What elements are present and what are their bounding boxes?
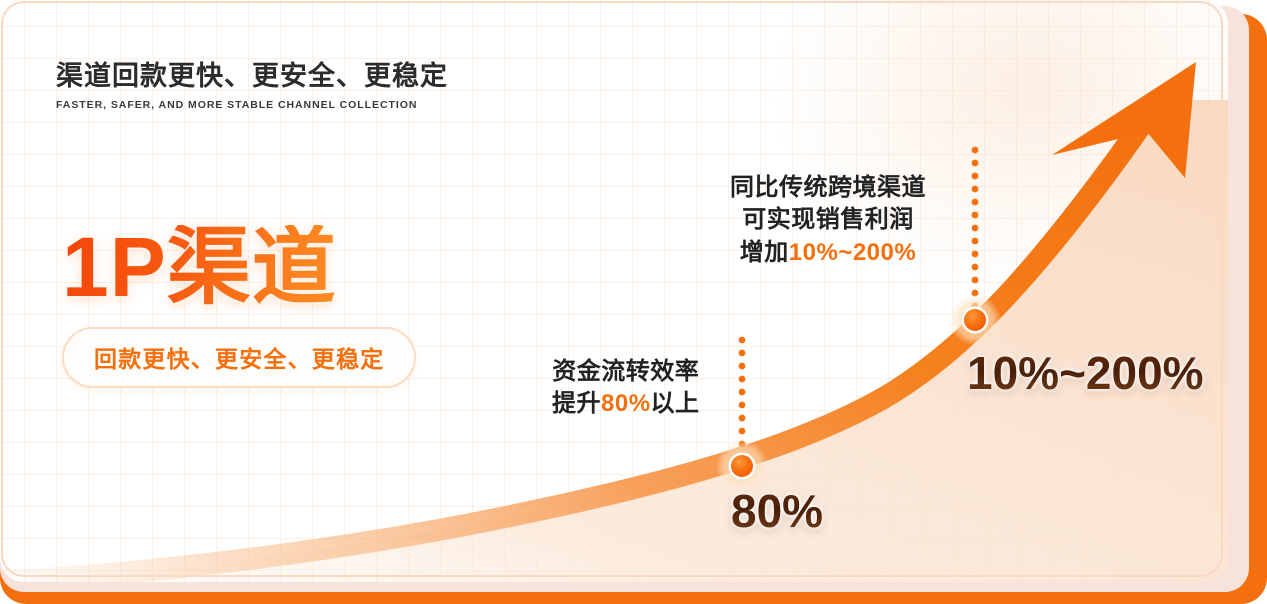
callout-1-line-2: 提升80%以上 — [552, 388, 700, 420]
page-title: 渠道回款更快、更安全、更稳定 — [56, 60, 448, 92]
dotted-connector-2 — [972, 147, 979, 310]
header: 渠道回款更快、更安全、更稳定 FASTER, SAFER, AND MORE S… — [56, 60, 448, 111]
value-label-10-200: 10%~200% — [967, 346, 1204, 400]
callout-2-line-2: 可实现销售利润 — [730, 204, 926, 236]
callout-2-line-3: 增加10%~200% — [730, 237, 926, 269]
callout-profit-increase: 同比传统跨境渠道 可实现销售利润 增加10%~200% — [730, 172, 926, 269]
callout-cash-efficiency: 资金流转效率 提升80%以上 — [552, 356, 700, 421]
callout-1-prefix: 提升 — [552, 390, 601, 417]
page-subtitle: FASTER, SAFER, AND MORE STABLE CHANNEL C… — [56, 99, 448, 111]
value-label-80: 80% — [731, 484, 823, 538]
callout-1-highlight: 80% — [601, 390, 651, 417]
infographic-stage: 渠道回款更快、更安全、更稳定 FASTER, SAFER, AND MORE S… — [0, 0, 1267, 604]
callout-1-line-1: 资金流转效率 — [552, 356, 700, 388]
callout-2-highlight: 10%~200% — [789, 239, 916, 266]
chart-marker-10-200[interactable] — [949, 294, 1001, 346]
brand-title: 1P渠道 — [62, 225, 416, 309]
main-card: 渠道回款更快、更安全、更稳定 FASTER, SAFER, AND MORE S… — [0, 0, 1228, 582]
brand-block: 1P渠道 回款更快、更安全、更稳定 — [62, 225, 416, 388]
callout-2-line-1: 同比传统跨境渠道 — [730, 172, 926, 204]
brand-badge-label: 回款更快、更安全、更稳定 — [94, 346, 384, 372]
brand-badge: 回款更快、更安全、更稳定 — [62, 327, 416, 388]
callout-2-prefix: 增加 — [740, 239, 789, 266]
callout-1-suffix: 以上 — [651, 390, 700, 417]
